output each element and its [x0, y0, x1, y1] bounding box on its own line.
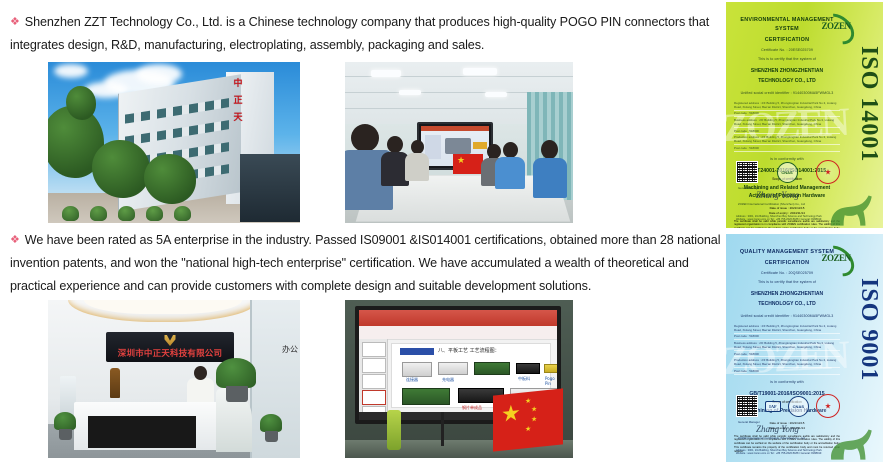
signature-script: Zhang Yong [756, 191, 838, 200]
address-row: Post code : 518000 [734, 368, 840, 374]
certificate-heading-line2: CERTIFICATION [734, 260, 840, 266]
certificate-accreditation-marks: IAF CNAS [736, 394, 840, 418]
certificate-accreditation-marks: CNAS [736, 160, 840, 184]
certificate-company-line2: TECHNOLOGY CO., LTD [734, 77, 840, 86]
product-thumb [544, 364, 557, 373]
product-caption: 中板料 [518, 376, 530, 382]
red-official-seal-icon [816, 160, 840, 184]
product-thumb [438, 362, 468, 375]
diamond-bullet-icon: ❖ [10, 229, 20, 252]
certificate-issuer: ZOZEN International Certification (Shenz… [738, 202, 838, 206]
cnas-mark-icon: CNAS [777, 162, 798, 183]
certificate-iso-9001: ZOZEN ZOZEN ISO 9001 QUALITY MANAGEMENT … [726, 234, 883, 462]
cloud-shape [136, 64, 182, 84]
footer-website: Website : www.zozen.com.cn Tel : +86 755… [736, 452, 832, 456]
certificate-number: Certificate No. : 20ESE025709 [734, 48, 840, 52]
certificate-address-block: Registered address : 2/F Building 5, Zho… [734, 100, 840, 152]
flag-star-small: ★ [525, 426, 531, 434]
certificate-attest-line: This is to certify that the system of [734, 57, 840, 61]
product-caption: Pogo Pin [545, 376, 555, 386]
certificate-credit-code: Unified social credit identifier : 91440… [734, 91, 840, 95]
photo-company-lobby: 深圳市中正天科技有限公司 办公 [48, 300, 300, 458]
plant-pot [226, 386, 248, 402]
flag-star-small: ★ [525, 398, 531, 406]
photo-presentation-display: 八、平板工艺 工艺流程图： 连接器 充电器 中板料 Pogo Pin [345, 300, 573, 458]
shrub [174, 206, 191, 221]
certificate-address-block: Registered address : 2/F Building 5, Zho… [734, 323, 840, 375]
flag-star-small: ★ [531, 406, 537, 414]
paragraph-certifications-intro: ❖We have been rated as 5A enterprise in … [10, 229, 724, 298]
certificate-footer: Address : 3001, 2/A Building, Shenzhen B… [736, 449, 832, 456]
ceiling-light [399, 90, 421, 95]
cloud-shape [54, 64, 88, 78]
slide-thumbnail-pane [359, 339, 388, 412]
signature-script: Zhang Yong [756, 425, 838, 434]
company-name-text: 深圳市中正天科技有限公司 [106, 347, 234, 359]
certificate-heading-line1: ENVIRONMENTAL MANAGEMENT SYSTEM [734, 16, 840, 34]
photo-factory-building: 中正天 [48, 62, 300, 223]
product-thumb [474, 362, 510, 375]
chinese-flag: ★ [453, 154, 483, 174]
certificate-footer: Address : 3001, 2/A Building, Shenzhen B… [736, 215, 832, 222]
paragraph-company-intro-text: Shenzhen ZZT Technology Co., Ltd. is a C… [10, 15, 709, 52]
shrub [118, 206, 135, 221]
certificate-heading-line1: QUALITY MANAGEMENT SYSTEM [734, 248, 840, 257]
certificate-standard-side-label: ISO 9001 [857, 278, 881, 381]
tree-foliage [92, 140, 150, 198]
plant-pot [59, 429, 72, 440]
certificate-company-line1: SHENZHEN ZHONGZHENTIAN [734, 67, 840, 76]
decor-statue [110, 368, 120, 398]
certificate-issuer: ZOZEN International Certification (Shenz… [738, 436, 838, 440]
tree-foliage [66, 86, 96, 120]
elephant-silhouette-icon [827, 426, 879, 460]
potted-plant [260, 414, 282, 432]
qr-code-icon [736, 161, 758, 183]
receptionist-body [187, 378, 214, 402]
certificate-iso-14001: ZOZEN ZOZEN ISO 14001 ENVIRONMENTAL MANA… [726, 2, 883, 228]
red-official-seal-icon [816, 394, 840, 418]
shrub [90, 206, 107, 221]
qr-code-icon [736, 395, 758, 417]
product-caption: 充电器 [442, 377, 454, 383]
diamond-bullet-icon: ❖ [10, 11, 20, 34]
cnas-mark-icon: CNAS [788, 396, 809, 417]
photo-meeting-room: ★ [345, 62, 573, 223]
building-shadow-side [240, 154, 300, 222]
certificate-company-line1: SHENZHEN ZHONGZHENTIAN [734, 290, 840, 299]
building-name-sign: 中正天 [230, 76, 246, 127]
slide-title-text: 八、平板工艺 工艺流程图： [438, 347, 500, 354]
certificate-attest-line: This is to certify that the system of [734, 280, 840, 284]
iaf-mark-icon: IAF [765, 401, 781, 412]
reception-desk-front-panel [88, 416, 196, 448]
ceiling-light [485, 92, 507, 97]
certificate-standard-side-label: ISO 14001 [857, 46, 881, 162]
tree-foliage [144, 154, 196, 204]
shrub [146, 206, 163, 221]
certificate-heading-line2: CERTIFICATION [734, 37, 840, 43]
office-label-text: 办公 [282, 344, 298, 355]
potted-plant [216, 358, 256, 388]
microphone-stand [441, 412, 444, 446]
slide-title-accent [400, 348, 434, 355]
certificate-number: Certificate No. : 20QSE025709 [734, 271, 840, 275]
company-logo-icon [165, 335, 176, 346]
footer-website: Website : www.zozen.com.cn Tel : +86 755… [736, 218, 832, 222]
flag-star-small: ★ [531, 416, 537, 424]
address-row: Business address : 2/F Building 5, Zhong… [734, 340, 840, 351]
app-ribbon-bar [359, 310, 557, 326]
certificate-signature-block: General Manager Zhang Yong ZOZEN Interna… [738, 420, 838, 440]
app-toolbar [359, 326, 557, 340]
chinese-flag: ★ ★ ★ ★ ★ [493, 388, 563, 451]
receptionist-head [194, 366, 207, 380]
ceiling-light [371, 70, 401, 77]
water-bottle [387, 410, 401, 450]
plant-pot [265, 431, 278, 442]
product-thumb [516, 363, 540, 374]
ceiling-light [463, 68, 497, 75]
product-caption: 连接器 [406, 377, 418, 383]
address-row: Post code : 518000 [734, 145, 840, 151]
company-name-signboard: 深圳市中正天科技有限公司 [106, 332, 234, 362]
certificate-company-line2: TECHNOLOGY CO., LTD [734, 300, 840, 309]
address-row: Registered address : 2/F Building 5, Zho… [734, 100, 840, 111]
content-column: ❖Shenzhen ZZT Technology Co., Ltd. is a … [0, 0, 726, 464]
address-row: Production address : 2/F Building 5, Zho… [734, 134, 840, 145]
shrub [62, 206, 79, 221]
potted-plant [54, 412, 76, 430]
paragraph-certifications-text: We have been rated as 5A enterprise in t… [10, 233, 720, 293]
address-row: Registered address : 2/F Building 5, Zho… [734, 323, 840, 334]
certificate-signature-block: General Manager Zhang Yong ZOZEN Interna… [738, 186, 838, 206]
address-row: Business address : 2/F Building 5, Zhong… [734, 117, 840, 128]
certificate-conformity-label: is in conformity with [734, 380, 840, 384]
paragraph-company-intro: ❖Shenzhen ZZT Technology Co., Ltd. is a … [10, 11, 716, 57]
flag-star-large: ★ [501, 403, 521, 427]
elephant-silhouette-icon [827, 192, 879, 226]
address-row: Production address : 2/F Building 5, Zho… [734, 357, 840, 368]
product-caption: 钢片单成品 [462, 405, 482, 411]
company-profile-page: ❖Shenzhen ZZT Technology Co., Ltd. is a … [0, 0, 883, 464]
product-thumb [402, 388, 450, 405]
product-thumb [402, 362, 432, 377]
certificate-credit-code: Unified social credit identifier : 91440… [734, 314, 840, 318]
